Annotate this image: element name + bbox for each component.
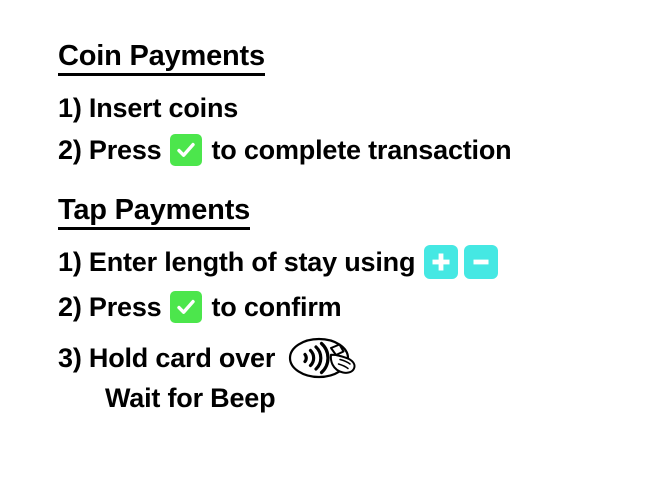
green-check-button-icon-2[interactable] (170, 291, 202, 323)
plus-minus-button-group (424, 245, 498, 279)
parking-meter-instruction-sign: Coin Payments 1) Insert coins 2) Press t… (0, 0, 667, 478)
cyan-plus-button-icon[interactable] (424, 245, 458, 279)
coin-step-2-suffix-label: to complete transaction (211, 137, 511, 164)
coin-step-1-label: 1) Insert coins (58, 95, 238, 122)
tap-step-2-suffix-label: to confirm (211, 294, 341, 321)
cyan-minus-button-icon[interactable] (464, 245, 498, 279)
tap-step-1-label: 1) Enter length of stay using (58, 249, 415, 276)
coin-step-1: 1) Insert coins (58, 95, 238, 122)
coin-payments-section: Coin Payments (58, 42, 265, 76)
coin-step-2: 2) Press to complete transaction (58, 134, 511, 166)
tap-step-1: 1) Enter length of stay using (58, 245, 498, 279)
tap-step-3: 3) Hold card over (58, 335, 363, 381)
coin-step-2-prefix-label: 2) Press (58, 137, 161, 164)
coin-payments-heading: Coin Payments (58, 42, 265, 76)
green-check-button-icon[interactable] (170, 134, 202, 166)
tap-step-2: 2) Press to confirm (58, 291, 341, 323)
tap-payments-section: Tap Payments (58, 196, 250, 230)
tap-step-4-label: Wait for Beep (105, 383, 275, 413)
tap-payments-heading: Tap Payments (58, 196, 250, 230)
tap-step-2-prefix-label: 2) Press (58, 294, 161, 321)
tap-step-4: Wait for Beep (105, 385, 275, 412)
tap-step-3-label: 3) Hold card over (58, 345, 275, 372)
contactless-tap-icon (287, 335, 363, 381)
